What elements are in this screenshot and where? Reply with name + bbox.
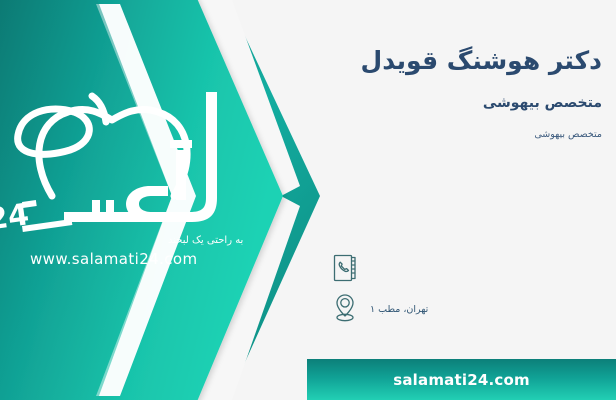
contact-block: تهران، مطب ۱: [330, 248, 600, 328]
phone-book-icon[interactable]: [330, 251, 360, 285]
business-card: 24 به راحتی یک لبخند www.salamati24.com …: [0, 0, 616, 400]
profile-content: دکتر هوشنگ قویدل متخصص بیهوشی متخصص بیهو…: [306, 0, 616, 400]
footer-bar[interactable]: salamati24.com: [307, 359, 616, 400]
chevron-graphic: 24 به راحتی یک لبخند www.salamati24.com: [0, 0, 320, 400]
map-pin-icon[interactable]: [330, 291, 360, 325]
footer-site-label: salamati24.com: [393, 371, 530, 389]
contact-row-phone[interactable]: [330, 248, 600, 288]
contact-location-label: تهران، مطب ۱: [370, 302, 428, 315]
logo-tagline: به راحتی یک لبخند: [168, 235, 243, 246]
specialty-secondary: متخصص بیهوشی: [306, 128, 602, 141]
logo-url: www.salamati24.com: [30, 250, 198, 268]
brand-panel: 24 به راحتی یک لبخند www.salamati24.com: [0, 0, 320, 400]
doctor-name: دکتر هوشنگ قویدل: [306, 44, 602, 78]
specialty-primary: متخصص بیهوشی: [306, 94, 602, 114]
contact-row-location[interactable]: تهران، مطب ۱: [330, 288, 600, 328]
